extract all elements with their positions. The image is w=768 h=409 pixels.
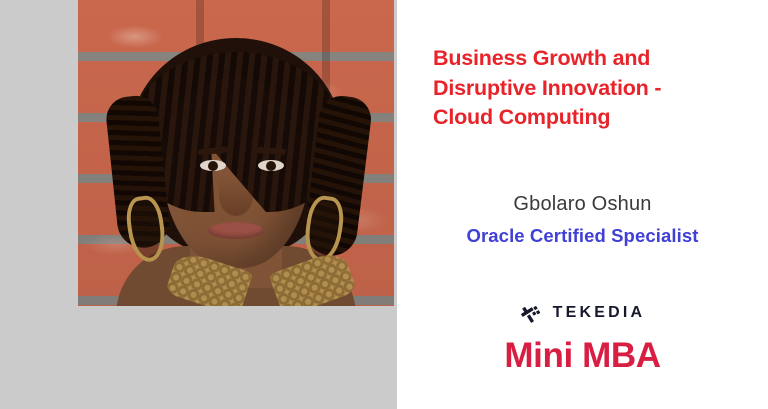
nose (219, 176, 253, 216)
lips (208, 222, 264, 239)
program-name: Mini MBA (397, 336, 768, 376)
tekedia-logo: TEKEDIA (397, 300, 768, 326)
eye-right (258, 160, 284, 171)
speaker-photo (78, 0, 394, 306)
eye-left (200, 160, 226, 171)
brand-block: TEKEDIA Mini MBA (397, 300, 768, 376)
speaker-name: Gbolaro Oshun (397, 193, 768, 216)
speaker-credential: Oracle Certified Specialist (397, 225, 768, 247)
tekedia-mark-icon (520, 302, 544, 324)
tekedia-wordmark: TEKEDIA (553, 304, 646, 322)
session-title: Business Growth and Disruptive Innovatio… (433, 44, 753, 133)
left-gray-panel (0, 0, 397, 409)
slide-canvas: Business Growth and Disruptive Innovatio… (0, 0, 768, 409)
right-content-panel: Business Growth and Disruptive Innovatio… (397, 0, 768, 409)
